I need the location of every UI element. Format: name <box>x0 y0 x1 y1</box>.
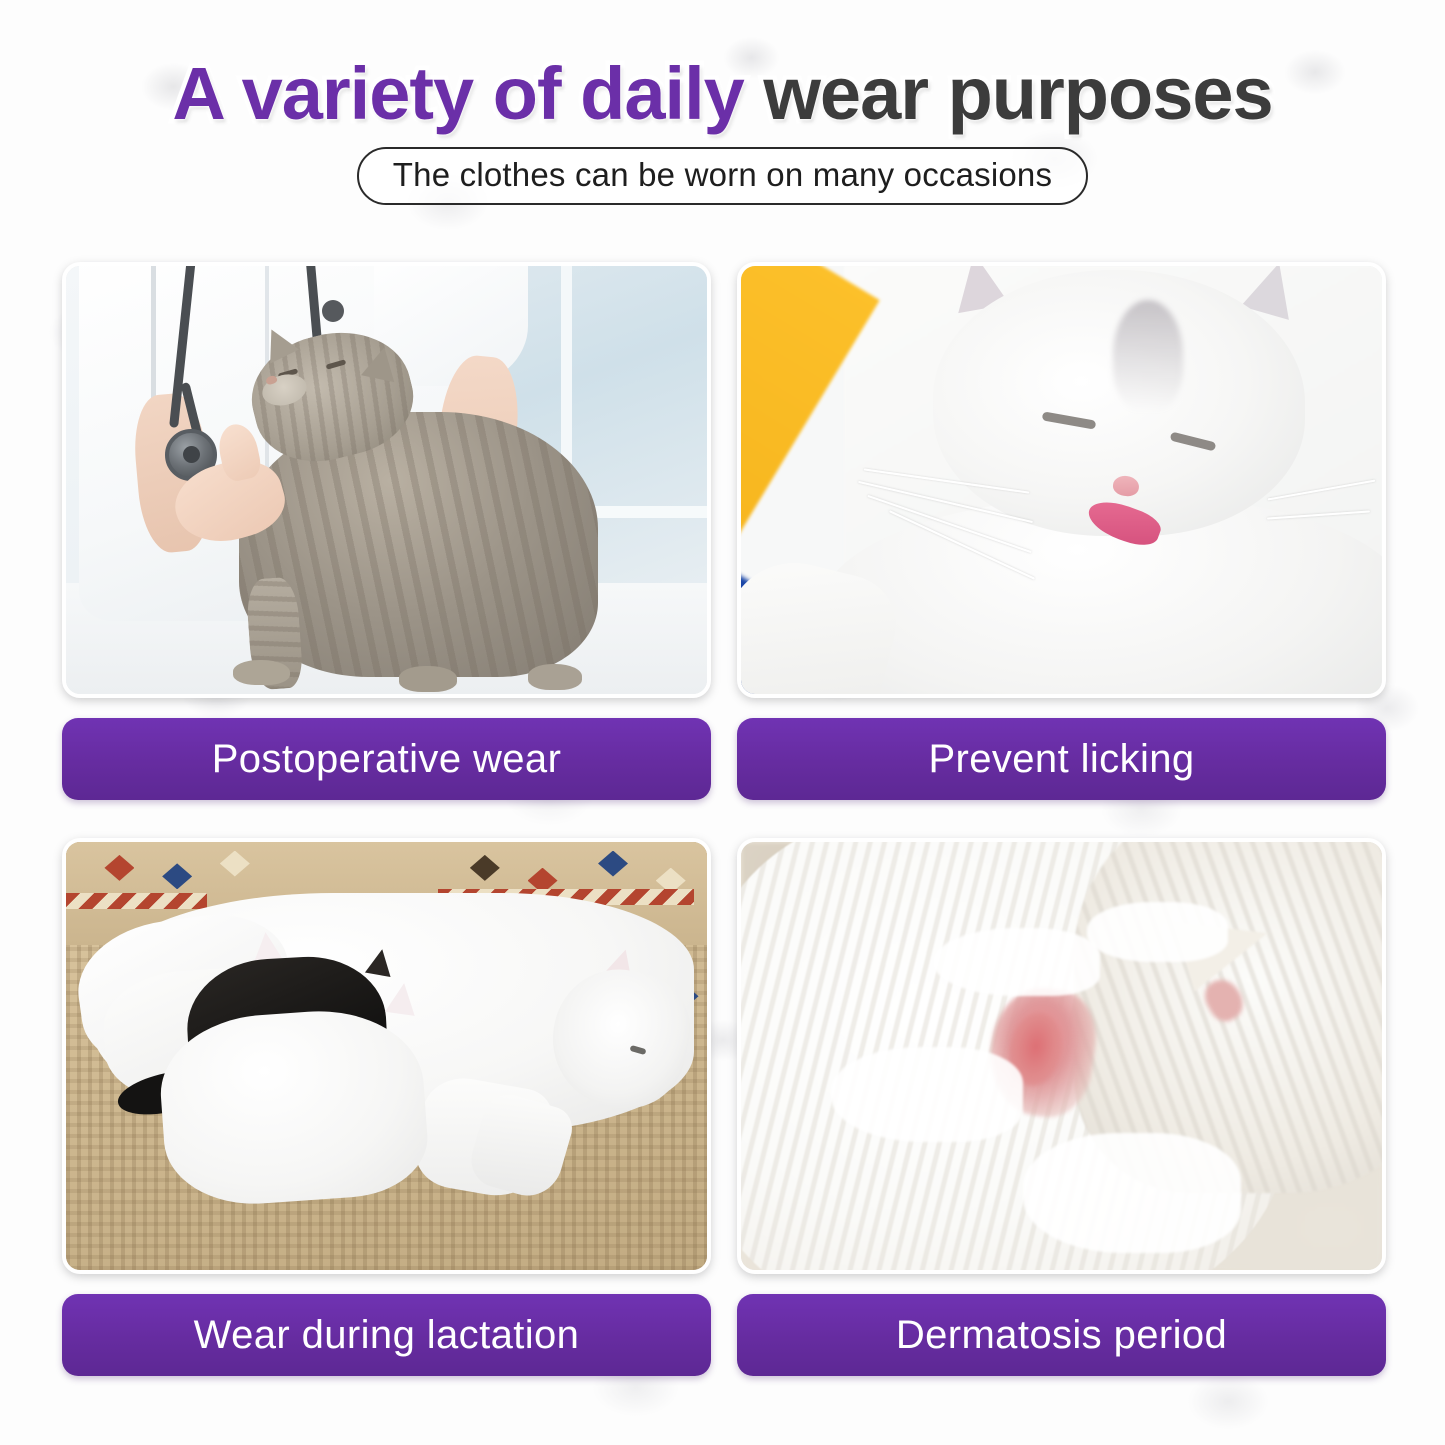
photo-frame-postoperative-wear <box>62 262 711 698</box>
fur-tuft <box>1087 902 1228 962</box>
use-case-card-postoperative-wear[interactable]: Postoperative wear <box>62 262 711 800</box>
photo-cat-skin-irritation <box>741 842 1382 1270</box>
use-case-card-prevent-licking[interactable]: Prevent licking <box>737 262 1386 800</box>
tabby-cat-paw-mid <box>399 666 457 692</box>
photo-frame-wear-during-lactation <box>62 838 711 1274</box>
fur-tuft <box>1023 1133 1241 1253</box>
header: A variety of daily wear purposes The clo… <box>0 0 1445 205</box>
label-bar-postoperative-wear[interactable]: Postoperative wear <box>62 718 711 800</box>
tabby-cat-paw-rear <box>528 664 582 690</box>
rug-zigzag-band <box>66 893 207 909</box>
infographic-page: A variety of daily wear purposes The clo… <box>0 0 1445 1445</box>
use-case-card-wear-during-lactation[interactable]: Wear during lactation <box>62 838 711 1376</box>
fur-tuft <box>933 928 1100 996</box>
photo-cat-licking <box>741 266 1382 694</box>
label-bar-prevent-licking[interactable]: Prevent licking <box>737 718 1386 800</box>
label-text-dermatosis-period: Dermatosis period <box>896 1313 1227 1358</box>
tabby-cat-paw-front <box>233 660 291 686</box>
photo-vet-examining-cat <box>66 266 707 694</box>
photo-mother-cat-nursing <box>66 842 707 1270</box>
photo-frame-dermatosis-period <box>737 838 1386 1274</box>
use-case-grid: Postoperative wear <box>62 262 1386 1376</box>
label-text-postoperative-wear: Postoperative wear <box>212 737 562 782</box>
photo-frame-prevent-licking <box>737 262 1386 698</box>
label-bar-dermatosis-period[interactable]: Dermatosis period <box>737 1294 1386 1376</box>
label-bar-wear-during-lactation[interactable]: Wear during lactation <box>62 1294 711 1376</box>
white-cat-head <box>933 270 1305 535</box>
kitten-white-front-ear <box>384 981 418 1016</box>
label-text-prevent-licking: Prevent licking <box>928 737 1194 782</box>
subtitle-pill: The clothes can be worn on many occasion… <box>357 147 1088 205</box>
fur-tuft <box>831 1047 1023 1141</box>
kitten-white-front <box>156 1004 431 1210</box>
page-title-highlight: A variety of daily <box>172 52 743 135</box>
subtitle-text: The clothes can be worn on many occasion… <box>393 156 1052 193</box>
kitten-black-ear <box>365 947 395 977</box>
page-title: A variety of daily wear purposes <box>0 55 1445 133</box>
label-text-wear-during-lactation: Wear during lactation <box>194 1313 580 1358</box>
page-title-rest: wear purposes <box>763 52 1272 135</box>
white-cat-forehead-marking <box>1113 300 1184 411</box>
use-case-card-dermatosis-period[interactable]: Dermatosis period <box>737 838 1386 1376</box>
